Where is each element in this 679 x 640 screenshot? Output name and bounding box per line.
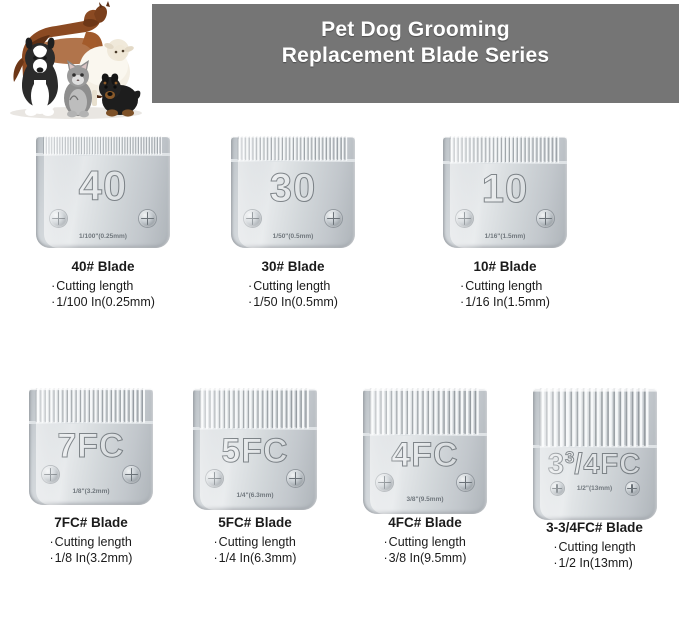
blade-caption-text: 1/8 In(3.2mm) [55, 551, 133, 565]
blade-teeth-3-3-4fc [533, 388, 657, 448]
blade-number-3-3-4fc: 33/4FC [533, 448, 657, 482]
bullet-dot: · [51, 279, 55, 293]
blade-caption-text: Cutting length [389, 535, 466, 549]
page-header: Pet Dog Grooming Replacement Blade Serie… [0, 0, 679, 118]
blade-screw-right-30 [325, 210, 342, 227]
blade-caption-title-40: 40# Blade [8, 259, 198, 274]
blade-caption-line1-30: ·Cutting length [248, 279, 338, 295]
blade-screw-right-4fc [457, 474, 474, 491]
blade-engraved-size-10: 1/16"(1.5mm) [443, 233, 567, 240]
blade-caption-title-4fc: 4FC# Blade [340, 515, 510, 530]
blade-card-40: 40 1/100"(0.25mm) 40# Blade ·Cutting len… [0, 136, 198, 311]
blade-caption-title-10: 10# Blade [388, 259, 622, 274]
blade-caption-10: 10# Blade ·Cutting length ·1/16 In(1.5mm… [388, 259, 622, 311]
bullet-dot: · [214, 535, 218, 549]
bullet-dot: · [553, 556, 557, 570]
blade-screw-left-5fc [206, 470, 223, 487]
blade-caption-text: 1/16 In(1.5mm) [465, 295, 550, 309]
bullet-dot: · [460, 279, 464, 293]
bullet-dot: · [248, 295, 252, 309]
bullet-dot: · [214, 551, 218, 565]
blade-engraved-size-4fc: 3/8"(9.5mm) [363, 496, 487, 503]
bullet-dot: · [384, 535, 388, 549]
bullet-dot: · [51, 295, 55, 309]
blade-card-3-3-4fc: 33/4FC 1/2"(13mm) 3-3/4FC# Blade ·Cuttin… [510, 388, 679, 572]
blade-caption-line2-4fc: ·3/8 In(9.5mm) [384, 551, 467, 567]
animal-group-photo [0, 0, 152, 122]
blade-caption-text: Cutting length [55, 535, 132, 549]
blade-caption-text: 1/50 In(0.5mm) [253, 295, 338, 309]
blade-teeth-30 [231, 136, 355, 162]
blade-teeth-10 [443, 136, 567, 164]
blade-caption-title-3-3-4fc: 3-3/4FC# Blade [510, 520, 679, 535]
page-title: Pet Dog Grooming Replacement Blade Serie… [152, 17, 679, 69]
blade-row-2: 7FC 1/8"(3.2mm) 7FC# Blade ·Cutting leng… [0, 388, 679, 572]
blade-engraved-size-7fc: 1/8"(3.2mm) [29, 488, 153, 495]
blade-graphic-40: 40 1/100"(0.25mm) [36, 136, 170, 248]
blade-caption-5fc: 5FC# Blade ·Cutting length ·1/4 In(6.3mm… [170, 515, 340, 567]
blade-caption-line2-40: ·1/100 In(0.25mm) [51, 295, 155, 311]
blade-caption-line2-3-3-4fc: ·1/2 In(13mm) [553, 556, 635, 572]
blade-card-30: 30 1/50"(0.5mm) 30# Blade ·Cutting lengt… [198, 136, 388, 311]
blade-caption-line1-5fc: ·Cutting length [214, 535, 297, 551]
blade-teeth-40 [36, 136, 170, 156]
blade-graphic-30: 30 1/50"(0.5mm) [231, 136, 355, 248]
blade-engraved-size-40: 1/100"(0.25mm) [36, 233, 170, 240]
blade-caption-line1-10: ·Cutting length [460, 279, 550, 295]
blade-card-10: 10 1/16"(1.5mm) 10# Blade ·Cutting lengt… [388, 136, 679, 311]
blade-screw-left-4fc [376, 474, 393, 491]
blade-number-5fc: 5FC [193, 432, 317, 471]
blade-caption-title-5fc: 5FC# Blade [170, 515, 340, 530]
blade-caption-line1-4fc: ·Cutting length [384, 535, 467, 551]
blade-caption-40: 40# Blade ·Cutting length ·1/100 In(0.25… [8, 259, 198, 311]
blade-card-4fc: 4FC 3/8"(9.5mm) 4FC# Blade ·Cutting leng… [340, 388, 510, 572]
blade-screw-right-40 [139, 210, 156, 227]
blade-caption-title-30: 30# Blade [198, 259, 388, 274]
blade-graphic-10: 10 1/16"(1.5mm) [443, 136, 567, 248]
blade-engraved-size-5fc: 1/4"(6.3mm) [193, 492, 317, 499]
blade-teeth-7fc [29, 388, 153, 424]
blade-number-40: 40 [36, 162, 170, 210]
blade-row-1: 40 1/100"(0.25mm) 40# Blade ·Cutting len… [0, 136, 679, 311]
blade-caption-4fc: 4FC# Blade ·Cutting length ·3/8 In(9.5mm… [340, 515, 510, 567]
blade-caption-line2-5fc: ·1/4 In(6.3mm) [214, 551, 297, 567]
bullet-dot: · [248, 279, 252, 293]
blade-graphic-4fc: 4FC 3/8"(9.5mm) [363, 388, 487, 514]
blade-teeth-4fc [363, 388, 487, 436]
bullet-dot: · [50, 551, 54, 565]
blade-number-7fc: 7FC [29, 427, 153, 466]
blade-screw-right-10 [537, 210, 554, 227]
animal-photo-illustration [0, 0, 152, 122]
blade-caption-text: Cutting length [465, 279, 542, 293]
blade-graphic-3-3-4fc: 33/4FC 1/2"(13mm) [533, 388, 657, 520]
blade-caption-line1-7fc: ·Cutting length [50, 535, 133, 551]
blade-caption-3-3-4fc: 3-3/4FC# Blade ·Cutting length ·1/2 In(1… [510, 520, 679, 572]
blade-caption-30: 30# Blade ·Cutting length ·1/50 In(0.5mm… [198, 259, 388, 311]
blade-caption-line1-3-3-4fc: ·Cutting length [553, 540, 635, 556]
blade-number-4fc: 4FC [363, 436, 487, 475]
page-title-line-2: Replacement Blade Series [152, 43, 679, 69]
blade-caption-text: Cutting length [559, 540, 636, 554]
blade-caption-text: 3/8 In(9.5mm) [389, 551, 467, 565]
bullet-dot: · [50, 535, 54, 549]
blade-card-7fc: 7FC 1/8"(3.2mm) 7FC# Blade ·Cutting leng… [0, 388, 170, 572]
blade-caption-text: Cutting length [219, 535, 296, 549]
blade-caption-line2-10: ·1/16 In(1.5mm) [460, 295, 550, 311]
blade-caption-text: 1/100 In(0.25mm) [56, 295, 155, 309]
blade-caption-line2-7fc: ·1/8 In(3.2mm) [50, 551, 133, 567]
blade-engraved-size-30: 1/50"(0.5mm) [231, 233, 355, 240]
blade-screw-left-30 [244, 210, 261, 227]
blade-number-10: 10 [443, 167, 567, 212]
blade-graphic-7fc: 7FC 1/8"(3.2mm) [29, 388, 153, 505]
blade-caption-title-7fc: 7FC# Blade [12, 515, 170, 530]
blade-caption-text: Cutting length [253, 279, 330, 293]
blade-caption-text: 1/4 In(6.3mm) [219, 551, 297, 565]
blade-caption-text: Cutting length [56, 279, 133, 293]
blade-screw-right-7fc [123, 466, 140, 483]
bullet-dot: · [553, 540, 557, 554]
blade-screw-left-10 [456, 210, 473, 227]
blade-number-30: 30 [231, 166, 355, 211]
blade-graphic-5fc: 5FC 1/4"(6.3mm) [193, 388, 317, 510]
blade-screw-left-7fc [42, 466, 59, 483]
page-title-line-1: Pet Dog Grooming [152, 17, 679, 43]
blade-caption-7fc: 7FC# Blade ·Cutting length ·1/8 In(3.2mm… [12, 515, 170, 567]
blade-engraved-size-3-3-4fc: 1/2"(13mm) [533, 485, 657, 492]
blade-teeth-5fc [193, 388, 317, 430]
blade-caption-line2-30: ·1/50 In(0.5mm) [248, 295, 338, 311]
blade-card-5fc: 5FC 1/4"(6.3mm) 5FC# Blade ·Cutting leng… [170, 388, 340, 572]
blade-screw-right-5fc [287, 470, 304, 487]
blade-caption-text: 1/2 In(13mm) [559, 556, 633, 570]
blade-screw-left-40 [50, 210, 67, 227]
blade-caption-line1-40: ·Cutting length [51, 279, 155, 295]
bullet-dot: · [460, 295, 464, 309]
bullet-dot: · [384, 551, 388, 565]
